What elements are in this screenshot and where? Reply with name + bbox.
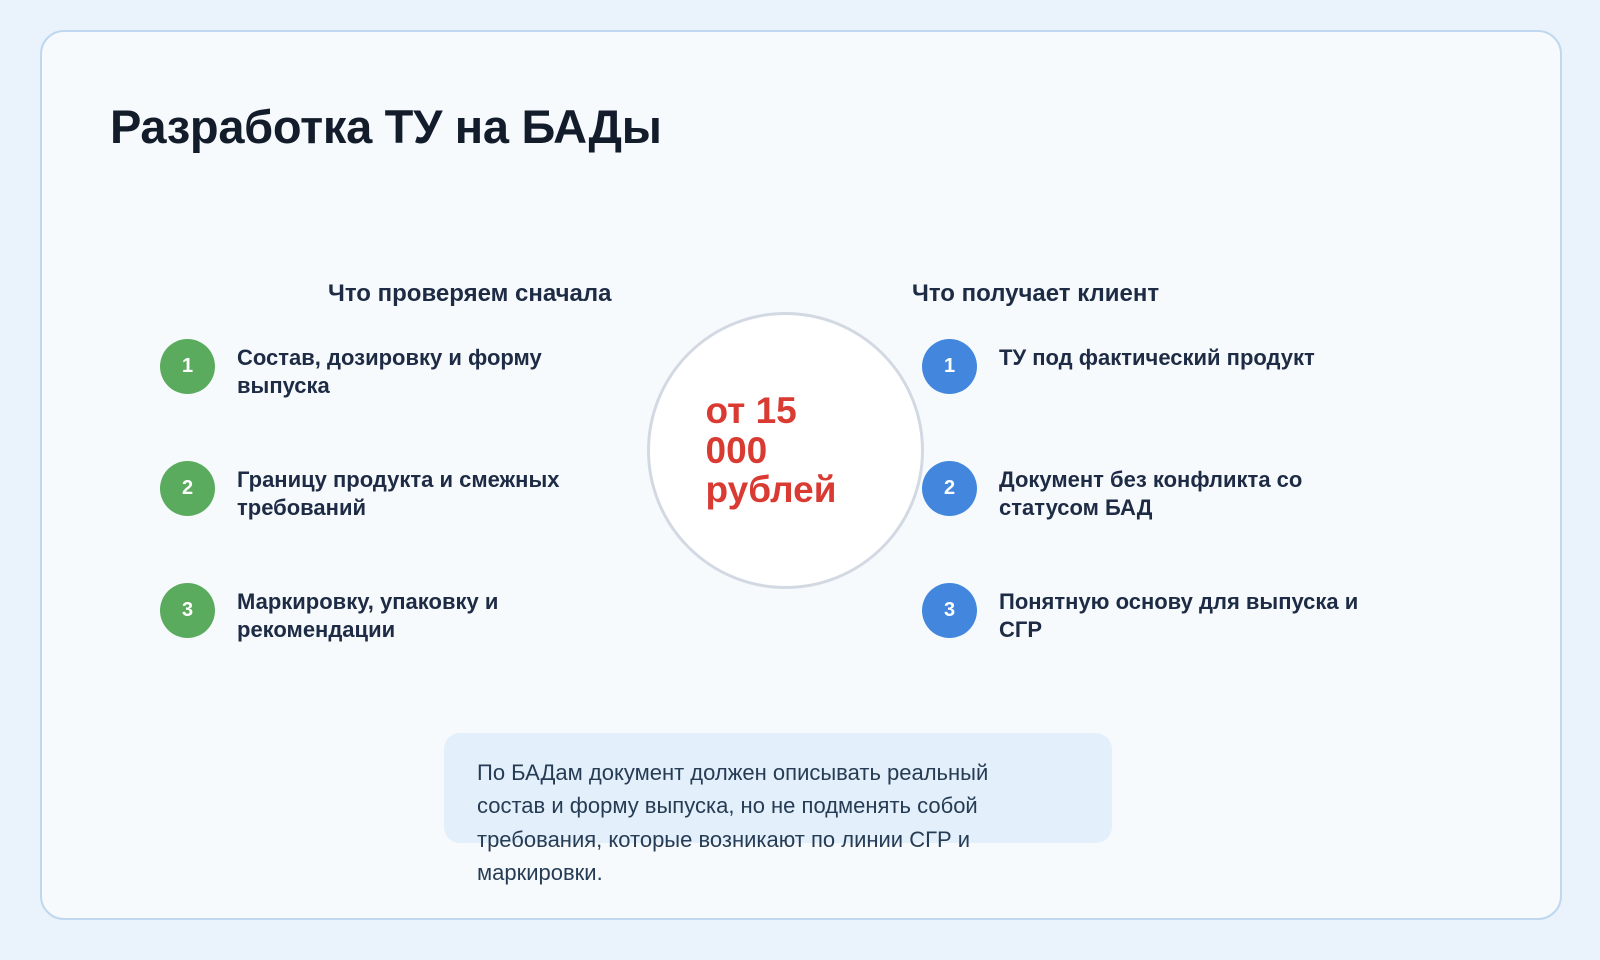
badge-number-icon: 1 [160, 339, 215, 394]
left-list-item-label: Состав, дозировку и форму выпуска [237, 337, 597, 400]
badge-number-icon: 2 [922, 461, 977, 516]
right-list-item-label: Документ без конфликта со статусом БАД [999, 459, 1379, 522]
right-column-heading: Что получает клиент [912, 280, 1159, 308]
price-circle: от 15 000 рублей [647, 312, 924, 589]
right-list-item-label: ТУ под фактический продукт [999, 337, 1379, 372]
right-list-item-1: 1 ТУ под фактический продукт [922, 337, 1392, 394]
right-list-item-label: Понятную основу для выпуска и СГР [999, 581, 1379, 644]
left-list-item-1: 1 Состав, дозировку и форму выпуска [160, 337, 610, 400]
infographic-card: Разработка ТУ на БАДы Что проверяем снач… [40, 30, 1562, 920]
note-text: По БАДам документ должен описывать реаль… [477, 756, 1057, 890]
left-column-heading: Что проверяем сначала [328, 280, 612, 308]
price-label: от 15 000 рублей [706, 391, 866, 511]
left-list-item-label: Маркировку, упаковку и рекомендации [237, 581, 597, 644]
right-list-item-2: 2 Документ без конфликта со статусом БАД [922, 459, 1392, 522]
badge-number-icon: 2 [160, 461, 215, 516]
right-list-item-3: 3 Понятную основу для выпуска и СГР [922, 581, 1392, 644]
left-list-item-label: Границу продукта и смежных требований [237, 459, 597, 522]
left-list-item-3: 3 Маркировку, упаковку и рекомендации [160, 581, 610, 644]
left-list-item-2: 2 Границу продукта и смежных требований [160, 459, 610, 522]
page-title: Разработка ТУ на БАДы [110, 97, 710, 157]
badge-number-icon: 1 [922, 339, 977, 394]
badge-number-icon: 3 [922, 583, 977, 638]
badge-number-icon: 3 [160, 583, 215, 638]
